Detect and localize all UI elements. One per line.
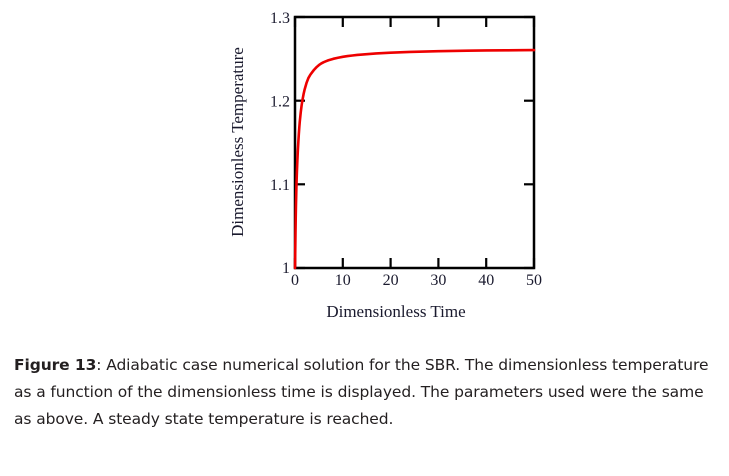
figure-container: 0 10 20 30 40 50 1 1.1 1.2 1.3 Dimension… xyxy=(0,0,729,345)
y-tick-label-2: 1.2 xyxy=(270,94,290,111)
y-tick-label-3: 1.3 xyxy=(270,10,290,27)
plot-frame xyxy=(295,17,534,268)
x-tick-label-2: 20 xyxy=(383,272,399,289)
x-tick-label-3: 30 xyxy=(430,272,446,289)
y-axis-tick-labels: 1 1.1 1.2 1.3 xyxy=(270,10,290,277)
x-axis-tick-labels: 0 10 20 30 40 50 xyxy=(291,272,542,289)
chart-plot: 0 10 20 30 40 50 1 1.1 1.2 1.3 Dimension… xyxy=(0,0,729,345)
y-axis-ticks-right xyxy=(524,17,534,268)
x-axis-ticks-bottom xyxy=(295,258,534,268)
figure-caption: Figure 13: Adiabatic case numerical solu… xyxy=(14,352,714,433)
y-tick-label-1: 1.1 xyxy=(270,177,290,194)
y-axis-title: Dimensionless Temperature xyxy=(228,47,247,237)
x-tick-label-0: 0 xyxy=(291,272,299,289)
x-tick-label-4: 40 xyxy=(478,272,494,289)
y-tick-label-0: 1 xyxy=(282,260,290,277)
x-axis-ticks-top xyxy=(295,17,534,27)
temperature-curve xyxy=(295,50,534,268)
x-tick-label-5: 50 xyxy=(526,272,542,289)
x-tick-label-1: 10 xyxy=(335,272,351,289)
x-axis-title: Dimensionless Time xyxy=(326,302,465,321)
figure-caption-text: Adiabatic case numerical solution for th… xyxy=(14,356,708,428)
figure-number-label: Figure 13 xyxy=(14,356,96,374)
